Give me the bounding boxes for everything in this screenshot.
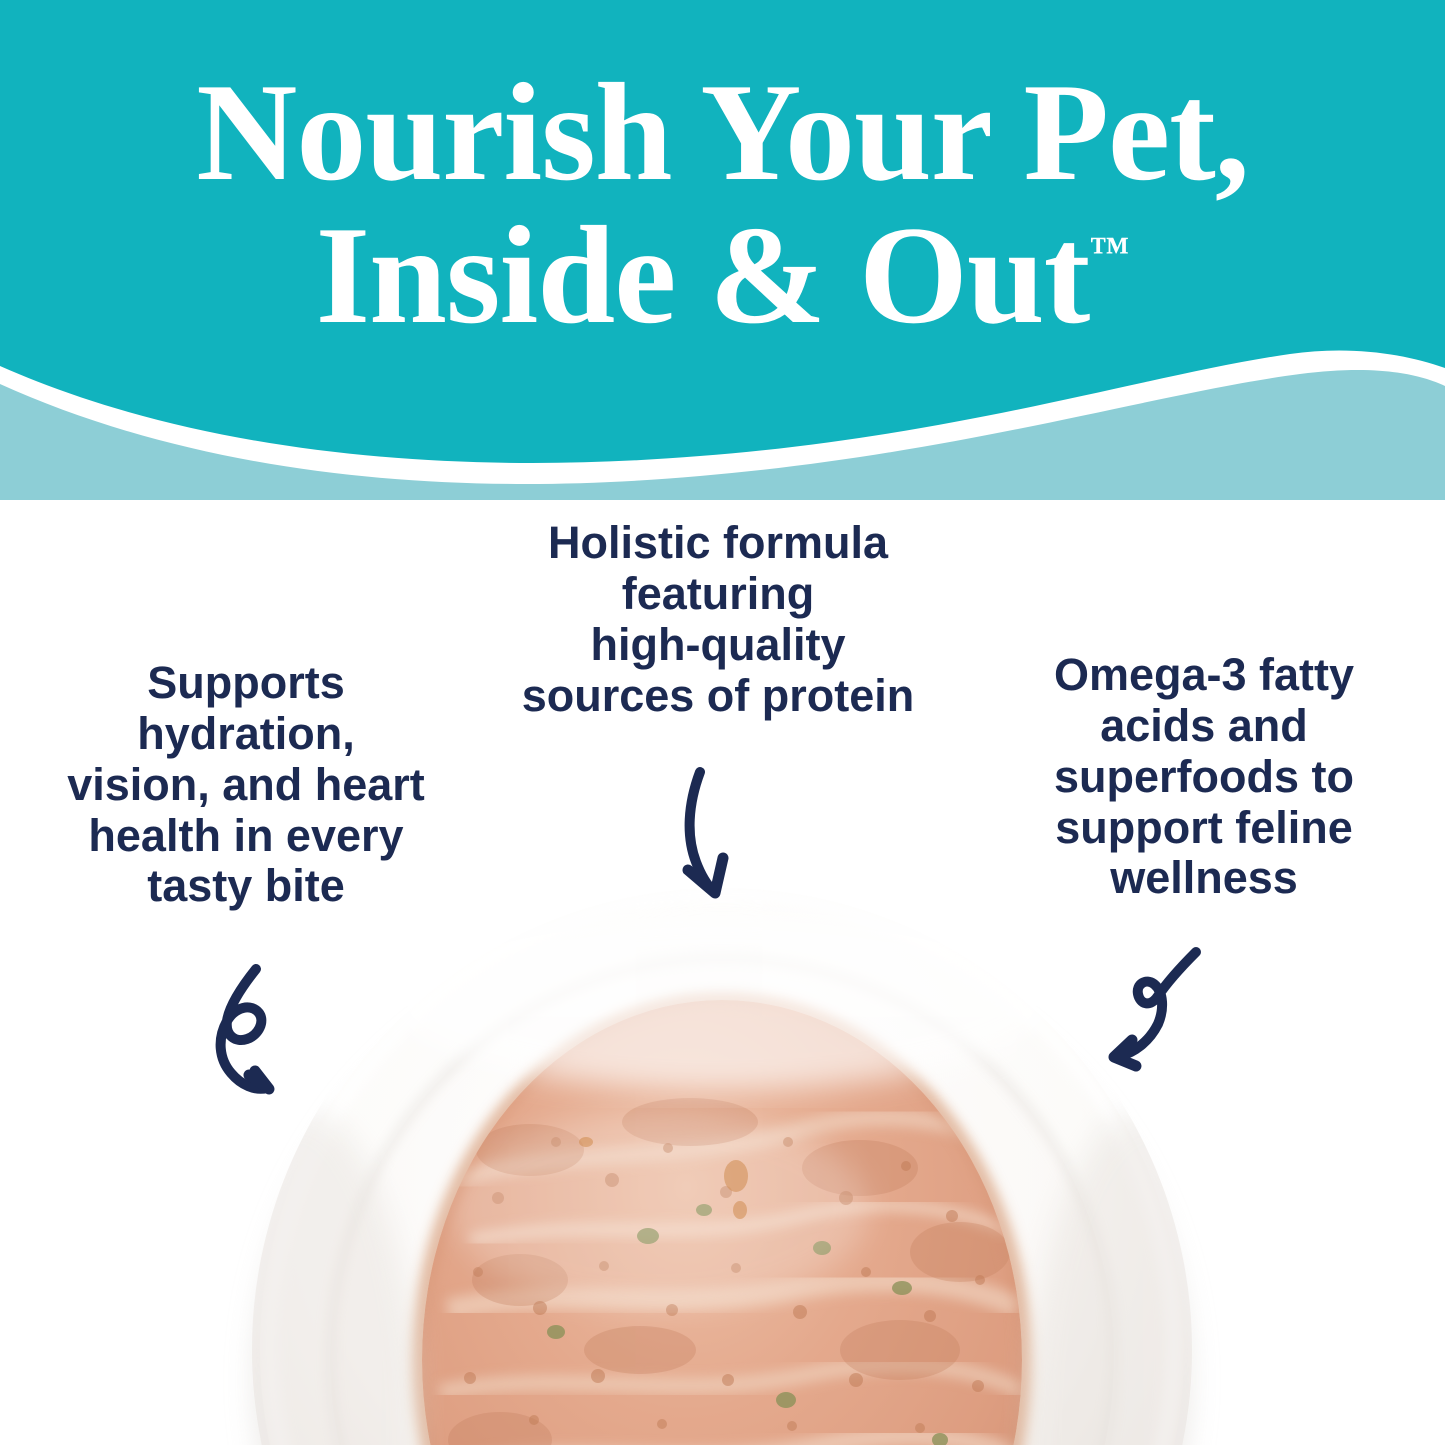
benefit-center-line-2: featuring <box>470 569 966 620</box>
banner-wave-shape <box>0 0 1445 500</box>
benefit-right-line-5: wellness <box>976 853 1432 904</box>
benefit-center-line-1: Holistic formula <box>470 518 966 569</box>
food-gloss-highlight <box>450 1112 870 1308</box>
infographic-page: Nourish Your Pet, Inside & Out™ <box>0 0 1445 1445</box>
benefit-right-line-1: Omega-3 fatty <box>976 650 1432 701</box>
benefit-text-holistic-protein: Holistic formula featuring high-quality … <box>470 518 966 721</box>
benefit-left-line-4: health in every <box>18 811 474 862</box>
benefit-left-line-3: vision, and heart <box>18 760 474 811</box>
benefit-right-line-4: support feline <box>976 803 1432 854</box>
benefit-left-line-2: hydration, <box>18 709 474 760</box>
teal-header-banner: Nourish Your Pet, Inside & Out™ <box>0 0 1445 500</box>
benefit-center-line-3: high-quality <box>470 620 966 671</box>
benefit-text-omega3-superfoods: Omega-3 fatty acids and superfoods to su… <box>976 650 1432 904</box>
benefit-left-line-1: Supports <box>18 658 474 709</box>
bowl-and-food-illustration <box>0 880 1445 1445</box>
benefit-right-line-3: superfoods to <box>976 752 1432 803</box>
benefit-text-hydration-vision-heart: Supports hydration, vision, and heart he… <box>18 658 474 912</box>
benefit-left-line-5: tasty bite <box>18 861 474 912</box>
benefit-right-line-2: acids and <box>976 701 1432 752</box>
benefit-center-line-4: sources of protein <box>470 671 966 722</box>
product-photo <box>0 880 1445 1445</box>
